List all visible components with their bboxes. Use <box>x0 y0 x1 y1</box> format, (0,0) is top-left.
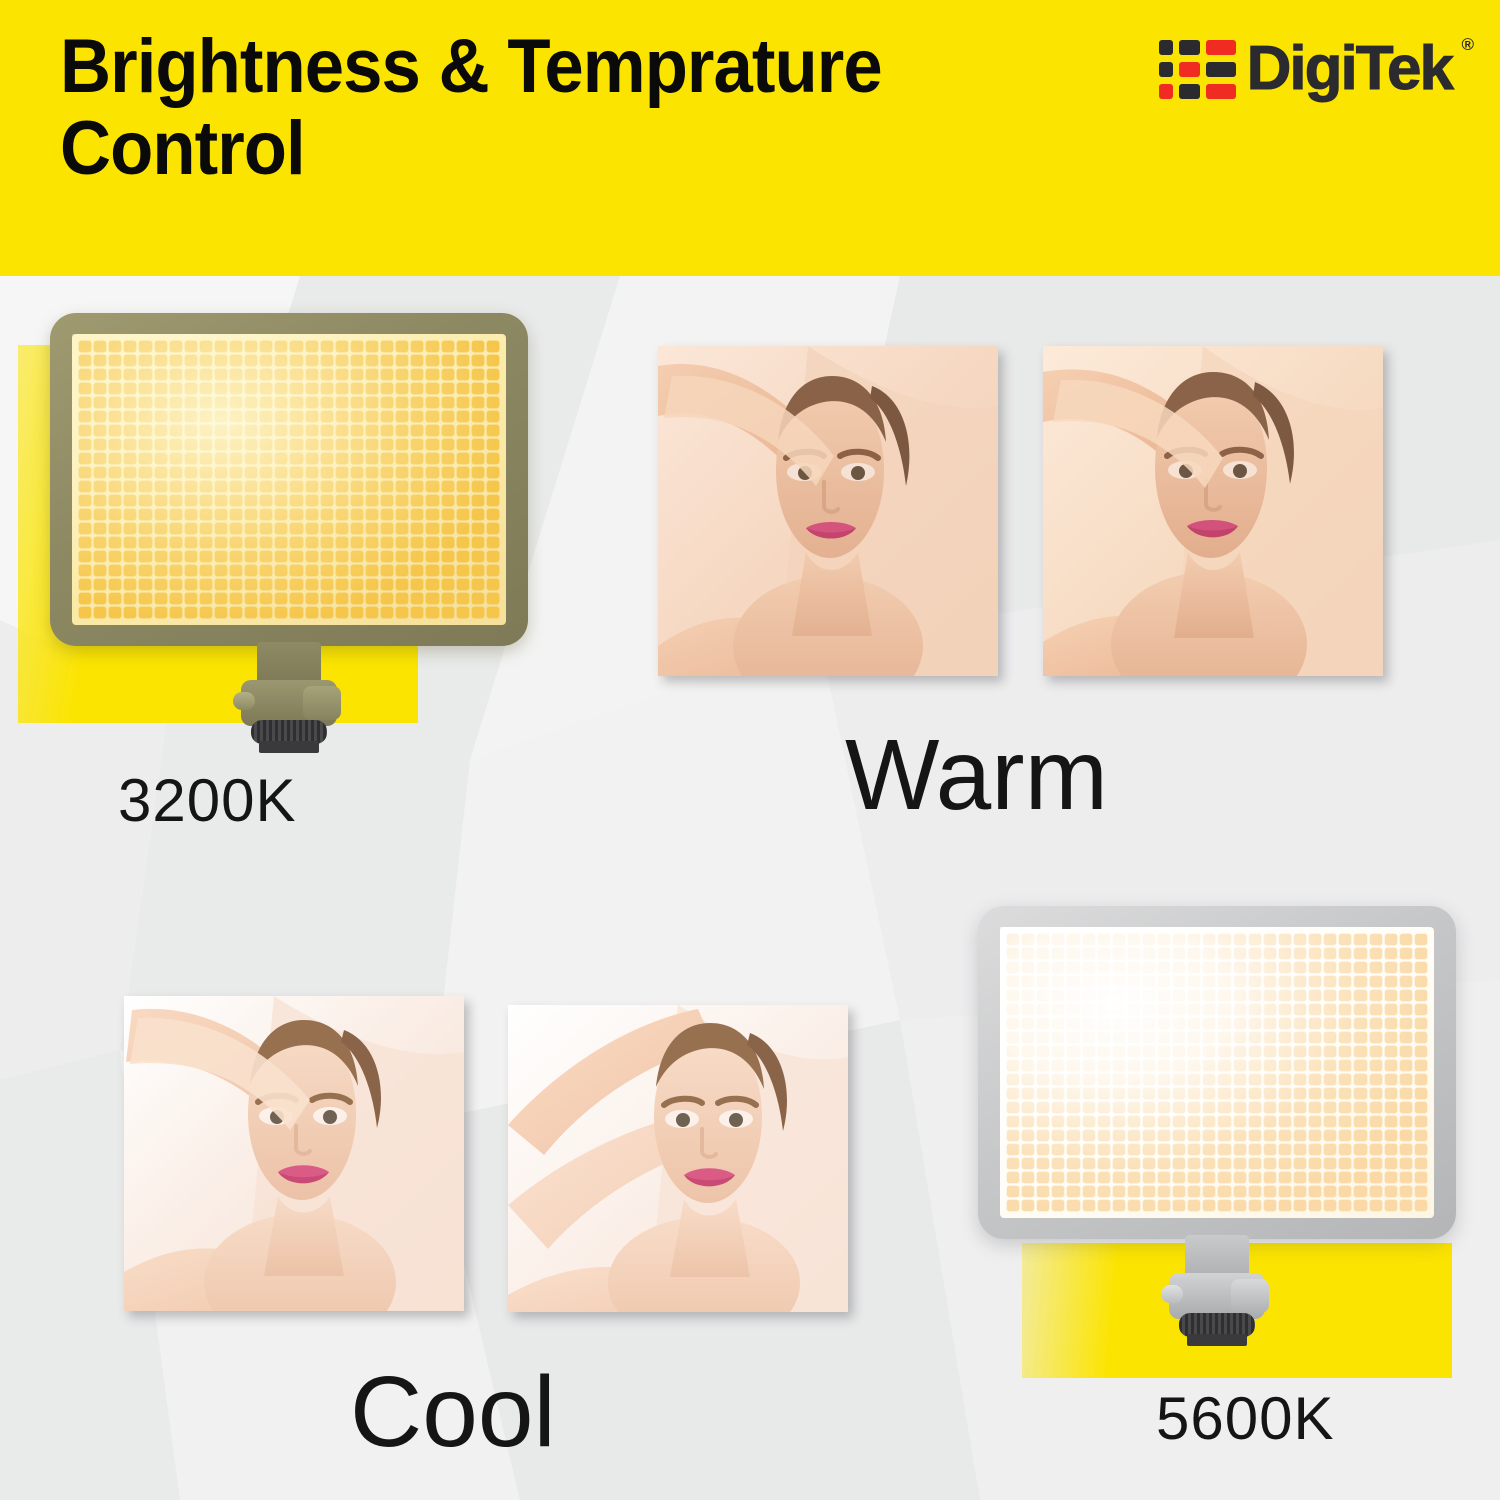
logo-wordmark: DigiTek ® <box>1247 38 1452 100</box>
mount-lock-knob <box>1231 1279 1269 1313</box>
cool-photo-2 <box>508 1005 848 1312</box>
page-title-line-1: Brightness & Temprature <box>60 26 1018 108</box>
page-title-line-2: Control <box>60 108 1018 190</box>
cool-portrait-artwork-2 <box>508 1005 848 1312</box>
warm-portrait-artwork-2 <box>1043 346 1383 676</box>
ball-head-mount <box>229 646 349 764</box>
cold-shoe-foot <box>1187 1334 1247 1346</box>
cold-shoe-foot <box>259 741 319 753</box>
led-panel-3200k <box>50 313 528 646</box>
logo-grid-icon <box>1159 40 1236 99</box>
mount-lock-knob <box>303 686 341 720</box>
panel-body <box>978 906 1456 1239</box>
label-cool: Cool <box>350 1355 556 1470</box>
warm-photo-1 <box>658 346 998 676</box>
panel-glow <box>1000 927 1434 1218</box>
header-banner: Brightness & Temprature Control DigiTek … <box>0 0 1500 276</box>
warm-photo-2 <box>1043 346 1383 676</box>
warm-portrait-artwork-1 <box>658 346 998 676</box>
cool-photo-1 <box>124 996 464 1311</box>
digitek-logo: DigiTek ® <box>1159 30 1452 108</box>
led-panel-5600k <box>978 906 1456 1239</box>
label-3200k: 3200K <box>118 766 297 835</box>
label-5600k: 5600K <box>1156 1384 1335 1453</box>
ball-head-mount <box>1157 1239 1277 1357</box>
panel-glow <box>72 334 506 625</box>
page-title: Brightness & Temprature Control <box>60 26 1018 190</box>
panel-body <box>50 313 528 646</box>
logo-wordmark-text: DigiTek <box>1247 34 1452 103</box>
cool-portrait-artwork-1 <box>124 996 464 1311</box>
registered-trademark-icon: ® <box>1461 36 1472 53</box>
mount-pin <box>1161 1285 1183 1303</box>
label-warm: Warm <box>845 718 1108 833</box>
mount-pin <box>233 692 255 710</box>
